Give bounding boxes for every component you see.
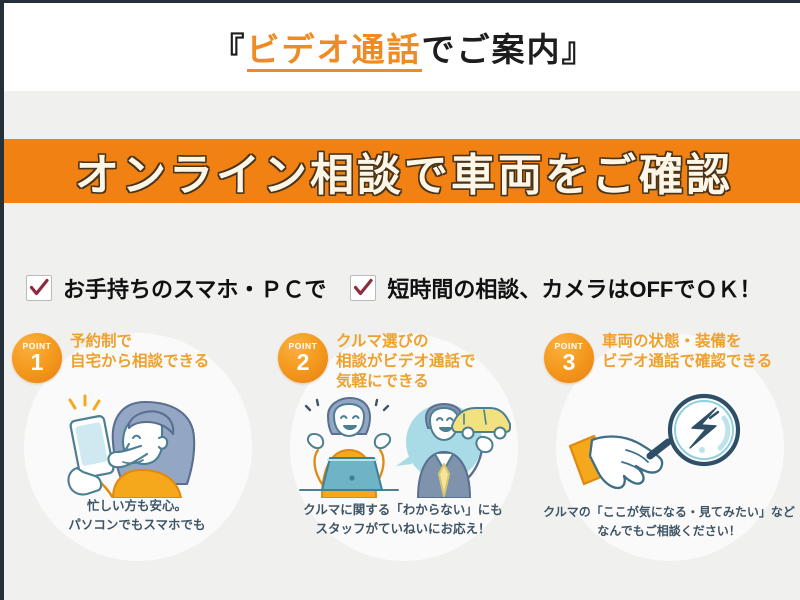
feature-check-item-2: 短時間の相談、カメラはOFFでＯＫ！	[350, 272, 761, 304]
headline-text: オンライン相談で車両をご確認	[75, 139, 733, 203]
video-call-with-staff-and-car-illustration	[270, 391, 536, 499]
point-badge-1: POINT 1	[12, 333, 62, 383]
feature-check-label-1: お手持ちのスマホ・ＰＣで	[63, 272, 326, 304]
feature-check-row: お手持ちのスマホ・ＰＣで 短時間の相談、カメラはOFFでＯＫ！	[4, 265, 800, 311]
point-badge-2: POINT 2	[278, 333, 328, 383]
point-column-2: POINT 2 クルマ選びの 相談がビデオ通話で 気軽にできる	[270, 325, 536, 575]
point-caption-line2: パソコンでもスマホでも	[4, 516, 270, 535]
point-caption-3: クルマの「ここが気になる・見てみたい」など なんでもご相談ください！	[536, 503, 800, 540]
title-close-bracket: 』	[562, 31, 597, 68]
point-badge-3: POINT 3	[544, 333, 594, 383]
point-title-3: 車両の状態・装備を ビデオ通話で確認できる	[602, 329, 772, 372]
point-title-line2: ビデオ通話で確認できる	[602, 352, 772, 372]
check-icon	[26, 275, 52, 301]
point-header-3: POINT 3 車両の状態・装備を ビデオ通話で確認できる	[544, 329, 772, 383]
point-title-line2: 相談がビデオ通話で	[336, 352, 476, 372]
point-title-2: クルマ選びの 相談がビデオ通話で 気軽にできる	[336, 329, 476, 391]
point-badge-number: 3	[563, 351, 576, 374]
title-strip: 『ビデオ通話でご案内』	[4, 3, 800, 91]
point-column-1: POINT 1 予約制で 自宅から相談できる	[4, 325, 270, 575]
point-caption-line1: クルマの「ここが気になる・見てみたい」など	[536, 503, 800, 522]
check-icon	[350, 275, 376, 301]
page-title: 『ビデオ通話でご案内』	[212, 23, 597, 71]
point-caption-2: クルマに関する「わからない」にも スタッフがていねいにお応え！	[270, 501, 536, 540]
point-badge-number: 2	[297, 351, 310, 374]
point-caption-line1: クルマに関する「わからない」にも	[270, 501, 536, 520]
point-badge-number: 1	[31, 351, 44, 374]
points-section: POINT 1 予約制で 自宅から相談できる	[4, 325, 800, 575]
point-title-1: 予約制で 自宅から相談できる	[70, 329, 209, 372]
feature-check-label-2: 短時間の相談、カメラはOFFでＯＫ！	[387, 272, 761, 304]
point-title-line3: 気軽にできる	[336, 372, 476, 392]
point-caption-line1: 忙しい方も安心。	[4, 497, 270, 516]
point-caption-line2: なんでもご相談ください！	[536, 522, 800, 541]
hand-holding-magnifier-illustration	[536, 387, 800, 499]
point-caption-line2: スタッフがていねいにお応え！	[270, 520, 536, 539]
point-title-line1: クルマ選びの	[336, 332, 476, 352]
feature-check-item-1: お手持ちのスマホ・ＰＣで	[26, 272, 326, 304]
point-header-1: POINT 1 予約制で 自宅から相談できる	[12, 329, 209, 383]
point-title-line1: 車両の状態・装備を	[602, 332, 772, 352]
title-rest: でご案内	[422, 31, 562, 68]
point-title-line2: 自宅から相談できる	[70, 352, 209, 372]
point-title-line1: 予約制で	[70, 332, 209, 352]
point-caption-1: 忙しい方も安心。 パソコンでもスマホでも	[4, 497, 270, 536]
promo-banner: 『ビデオ通話でご案内』 オンライン相談で車両をご確認 お手持ちのスマホ・ＰＣで …	[0, 0, 800, 600]
woman-with-smartphone-illustration	[4, 379, 270, 499]
point-header-2: POINT 2 クルマ選びの 相談がビデオ通話で 気軽にできる	[278, 329, 476, 391]
point-column-3: POINT 3 車両の状態・装備を ビデオ通話で確認できる	[536, 325, 800, 575]
title-open-bracket: 『	[212, 31, 247, 68]
headline-band: オンライン相談で車両をご確認	[4, 139, 800, 203]
title-highlight: ビデオ通話	[247, 31, 422, 72]
